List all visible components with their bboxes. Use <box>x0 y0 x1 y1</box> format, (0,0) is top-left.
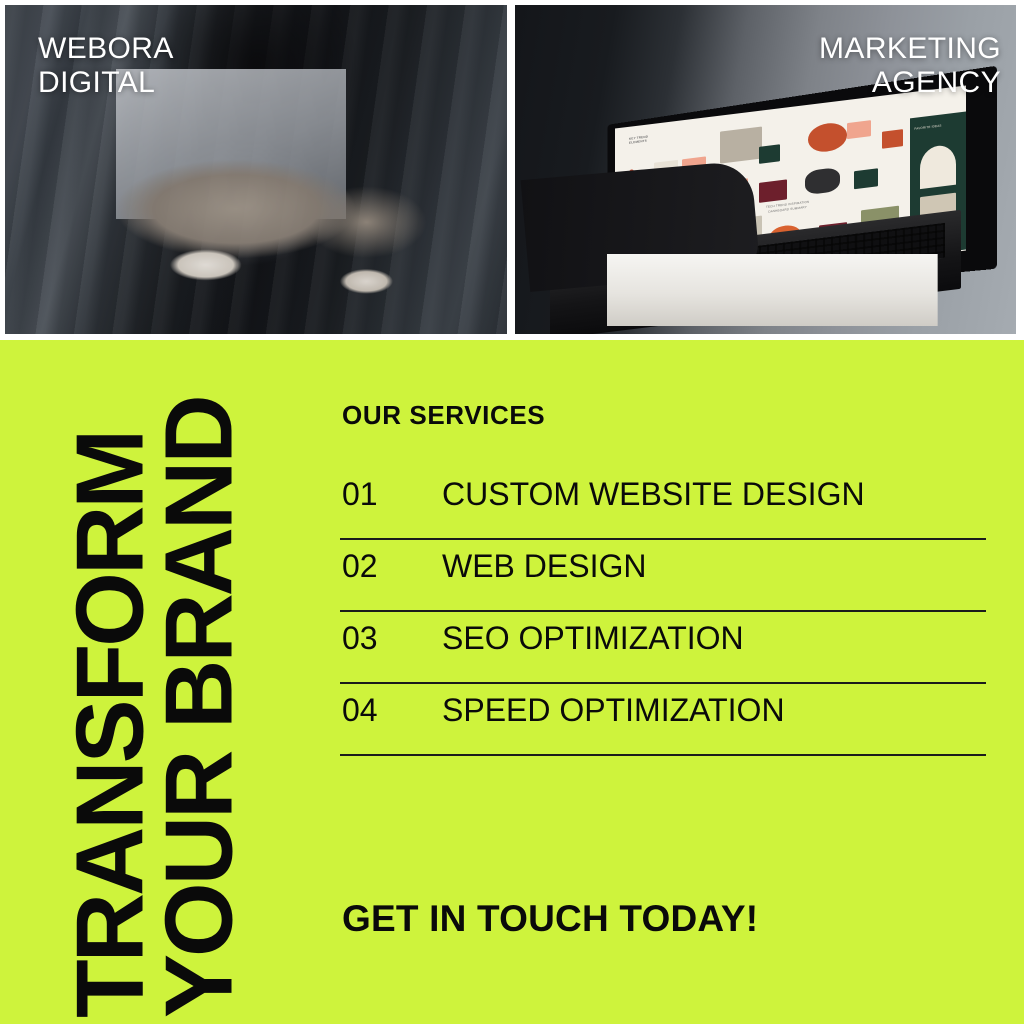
call-to-action-text[interactable]: GET IN TOUCH TODAY! <box>342 898 758 940</box>
laptop-keys <box>648 223 944 294</box>
service-name: SEO OPTIMIZATION <box>442 620 744 657</box>
brand-name-caption: WEBORA DIGITAL <box>38 32 174 99</box>
screen-side-panel: FAVORITE IDEAS <box>910 112 966 257</box>
screen-image-tile <box>804 167 839 196</box>
photo-strip: WEBORA DIGITAL KEY TREND ELEMENTS <box>0 0 1024 340</box>
laptop-on-desk-photo: KEY TREND ELEMENTS <box>515 5 1017 334</box>
screen-swatch <box>882 129 903 148</box>
service-name: SPEED OPTIMIZATION <box>442 692 785 729</box>
screen-swatch <box>720 178 748 201</box>
woman-with-tablet-photo: WEBORA DIGITAL <box>5 5 507 334</box>
screen-swatch <box>681 178 706 199</box>
screen-swatch <box>846 120 871 139</box>
screen-caption-text: TECH TREND INSPIRATION DASHBOARD SUMMARY <box>766 200 809 214</box>
screen-image-tile <box>769 224 801 249</box>
service-name: WEB DESIGN <box>442 548 646 585</box>
laptop-keyboard-base <box>550 210 961 334</box>
screen-bullet-dot <box>629 169 634 175</box>
screen-panel-tile <box>920 143 956 189</box>
screen-panel-tile <box>920 193 956 231</box>
screen-panel-label: FAVORITE IDEAS <box>914 123 941 131</box>
screen-bullet-dot <box>629 199 634 205</box>
screen-image-tile <box>720 216 762 251</box>
screen-swatch <box>818 222 846 245</box>
screen-swatch <box>653 160 678 181</box>
service-number: 03 <box>340 620 442 657</box>
laptop-screen-mockup: KEY TREND ELEMENTS <box>615 85 966 293</box>
services-list: 01 CUSTOM WEBSITE DESIGN 02 WEB DESIGN 0… <box>340 468 986 756</box>
service-row[interactable]: 02 WEB DESIGN <box>340 540 986 612</box>
screen-swatch <box>854 169 879 190</box>
service-name: CUSTOM WEBSITE DESIGN <box>442 476 865 513</box>
headline-line-1: TRANSFORM <box>66 340 155 1024</box>
service-number: 02 <box>340 548 442 585</box>
person-forearm <box>520 160 760 292</box>
screen-wordmark: Wares <box>632 271 657 284</box>
laptop-trackpad <box>665 277 805 321</box>
agency-type-caption: MARKETING AGENCY <box>819 32 1001 99</box>
vertical-headline: TRANSFORM YOUR BRAND <box>0 340 310 1024</box>
screen-heading-text: KEY TREND ELEMENTS <box>629 134 648 145</box>
screen-swatch <box>759 144 780 163</box>
headline-line-2: YOUR BRAND <box>155 340 244 1024</box>
screen-bullet-dot <box>629 228 634 234</box>
service-row[interactable]: 04 SPEED OPTIMIZATION <box>340 684 986 756</box>
screen-swatch <box>861 205 900 233</box>
screen-swatch <box>653 182 678 203</box>
person-hand <box>662 196 769 262</box>
services-content: OUR SERVICES 01 CUSTOM WEBSITE DESIGN 02… <box>340 340 1000 1024</box>
screen-swatch <box>681 157 706 178</box>
section-label-our-services: OUR SERVICES <box>342 400 545 431</box>
service-number: 04 <box>340 692 442 729</box>
screen-image-tile <box>808 121 847 154</box>
screen-image-tile <box>720 127 762 163</box>
screen-swatch <box>759 180 787 203</box>
promo-poster: WEBORA DIGITAL KEY TREND ELEMENTS <box>0 0 1024 1024</box>
service-row[interactable]: 01 CUSTOM WEBSITE DESIGN <box>340 468 986 540</box>
service-number: 01 <box>340 476 442 513</box>
service-row[interactable]: 03 SEO OPTIMIZATION <box>340 612 986 684</box>
